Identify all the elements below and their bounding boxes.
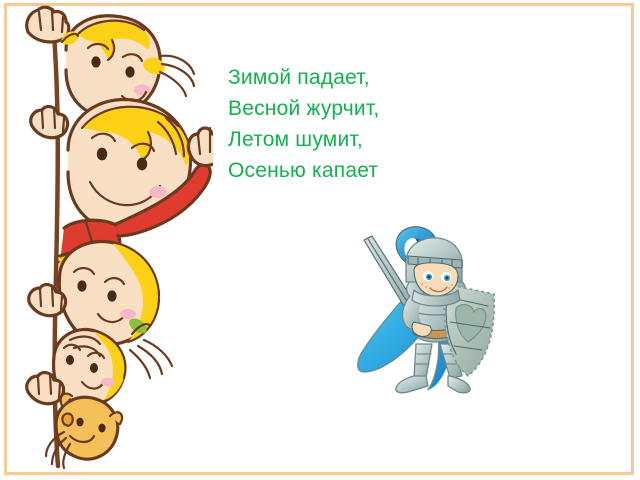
riddle-line-1: Зимой падает, (228, 62, 528, 93)
child-hand-middle (31, 107, 68, 138)
cartoon-knight-clipart: .kol { fill:none; stroke:#6d8a8a; stroke… (352, 226, 502, 396)
riddle-text-block: Зимой падает, Весной журчит, Летом шумит… (228, 62, 528, 186)
riddle-line-2: Весной журчит, (228, 93, 528, 124)
riddle-line-3: Летом шумит, (228, 124, 528, 155)
child-fourth-small (27, 329, 126, 405)
child-hand-top (27, 7, 69, 42)
slide-canvas: .ol { fill:none; stroke:#6b3a1e; stroke-… (0, 0, 640, 480)
children-peeking-clipart: .ol { fill:none; stroke:#6b3a1e; stroke-… (8, 4, 213, 470)
riddle-line-4: Осенью капает (228, 155, 528, 186)
